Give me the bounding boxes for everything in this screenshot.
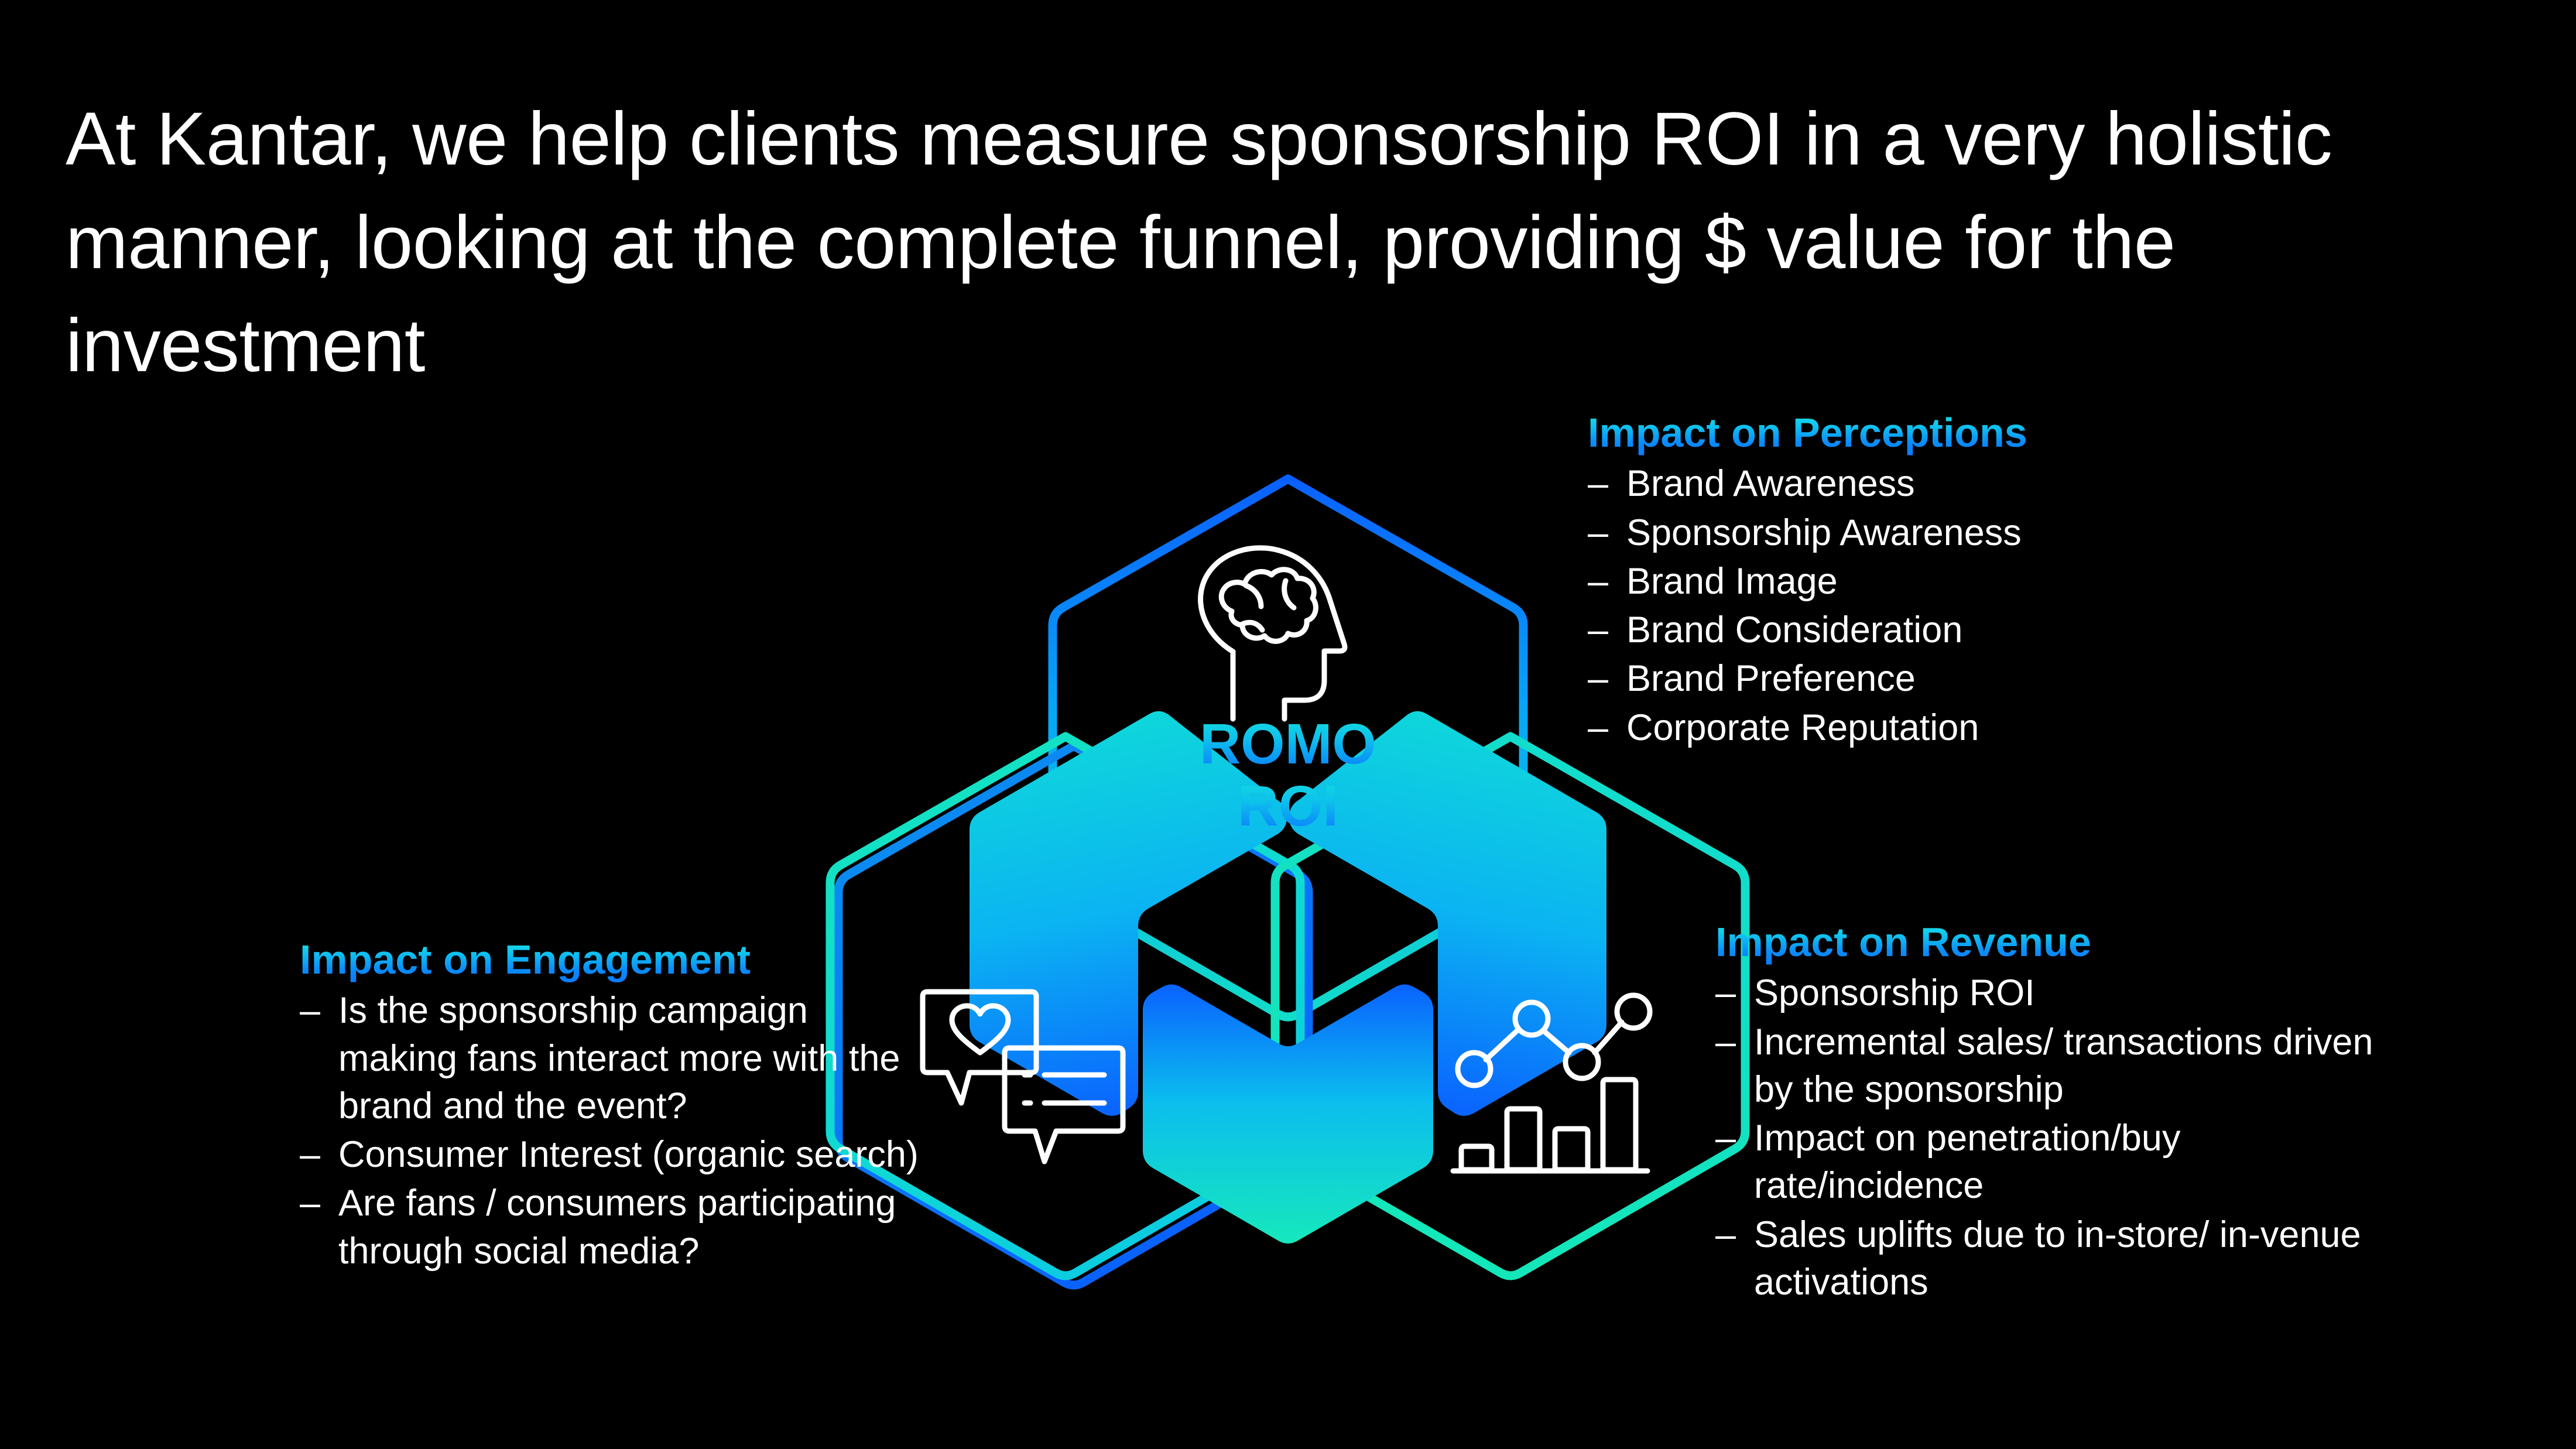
list-item: –Brand Consideration [1588,607,2396,654]
list-item: –Sales uplifts due to in-store/ in-venue… [1715,1211,2406,1307]
bullet-dash: – [300,1180,327,1227]
head-brain-icon [1201,548,1345,719]
list-item-label: Consumer Interest (organic search) [338,1134,919,1175]
panel-engagement-heading: Impact on Engagement [300,937,920,982]
list-item: –Are fans / consumers participating thro… [300,1180,920,1275]
bullet-dash: – [1588,607,1615,654]
page-title: At Kantar, we help clients measure spons… [66,88,2466,398]
panel-revenue-heading: Impact on Revenue [1715,919,2406,965]
bullet-dash: – [1588,704,1615,752]
list-item-label: Incremental sales/ transactions driven b… [1754,1022,2373,1110]
panel-engagement: Impact on Engagement –Is the sponsorship… [300,937,920,1276]
list-item: –Incremental sales/ transactions driven … [1715,1019,2406,1114]
bullet-dash: – [1715,1115,1742,1162]
bullet-dash: – [1715,1019,1742,1066]
bullet-dash: – [1588,509,1615,557]
list-item: –Corporate Reputation [1588,704,2396,752]
list-item-label: Is the sponsorship campaign making fans … [338,990,900,1126]
list-item-label: Brand Consideration [1626,609,1962,650]
list-item: –Brand Awareness [1588,460,2396,508]
bullet-dash: – [1588,558,1615,605]
list-item: –Sponsorship ROI [1715,970,2406,1017]
slide-root: At Kantar, we help clients measure spons… [0,0,2576,1449]
bullet-dash: – [300,987,327,1034]
panel-perceptions: Impact on Perceptions –Brand Awareness –… [1588,410,2396,753]
bullet-dash: – [1588,460,1615,508]
list-item: –Sponsorship Awareness [1588,509,2396,557]
list-item: –Brand Preference [1588,655,2396,703]
bullet-dash: – [1715,970,1742,1017]
list-item-label: Sales uplifts due to in-store/ in-venue … [1754,1214,2361,1303]
list-item: –Consumer Interest (organic search) [300,1131,920,1179]
list-item-label: Brand Preference [1626,658,1916,699]
romo-roi-diagram: ROMO ROI [866,463,1710,1358]
list-item-label: Impact on penetration/buy rate/incidence [1754,1118,2180,1206]
panel-perceptions-list: –Brand Awareness –Sponsorship Awareness … [1588,460,2396,752]
panel-engagement-list: –Is the sponsorship campaign making fans… [300,987,920,1275]
center-label-roi: ROI [1238,774,1338,838]
panel-perceptions-heading: Impact on Perceptions [1588,410,2396,455]
list-item-label: Brand Image [1626,561,1838,602]
list-item-label: Corporate Reputation [1626,707,1979,748]
panel-revenue: Impact on Revenue –Sponsorship ROI –Incr… [1715,919,2406,1307]
bullet-dash: – [1715,1211,1742,1259]
list-item-label: Sponsorship Awareness [1626,512,2022,553]
bullet-dash: – [300,1131,327,1179]
list-item-label: Brand Awareness [1626,463,1915,504]
list-item-label: Are fans / consumers participating throu… [338,1183,896,1271]
bullet-dash: – [1588,655,1615,703]
panel-revenue-list: –Sponsorship ROI –Incremental sales/ tra… [1715,970,2406,1306]
list-item: –Is the sponsorship campaign making fans… [300,987,920,1130]
list-item-label: Sponsorship ROI [1754,972,2035,1013]
list-item: –Impact on penetration/buy rate/incidenc… [1715,1115,2406,1210]
center-label-romo: ROMO [1200,712,1376,776]
list-item: –Brand Image [1588,558,2396,605]
